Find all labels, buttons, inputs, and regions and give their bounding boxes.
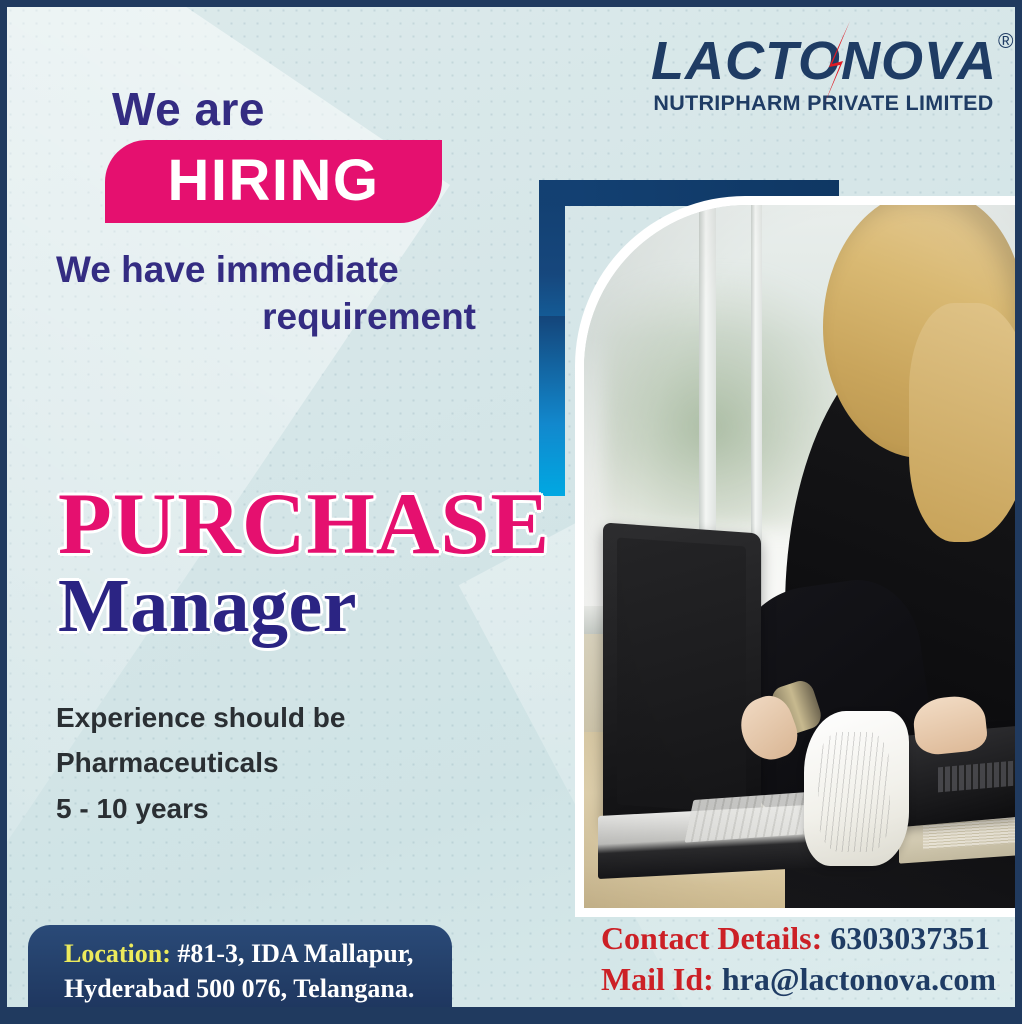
decorative-arc-tail: [539, 316, 565, 496]
logo-subtitle: NUTRIPHARM PRIVATE LIMITED: [651, 91, 996, 116]
photo-section: [575, 196, 1022, 917]
immediate-line-2: requirement: [56, 293, 476, 340]
mail-id-label: Mail Id:: [601, 961, 714, 997]
location-label: Location:: [64, 939, 171, 968]
photo-frame: [575, 196, 1022, 917]
requirement-line-1: Experience should be: [56, 695, 496, 740]
contact-mail-value[interactable]: hra@lactonova.com: [714, 961, 996, 997]
immediate-line-1: We have immediate: [56, 249, 399, 290]
location-line-1: Location: #81-3, IDA Mallapur,: [64, 937, 452, 972]
location-address-1: #81-3, IDA Mallapur,: [171, 939, 413, 968]
contact-phone-value[interactable]: 6303037351: [822, 920, 990, 956]
job-title-block: PURCHASE Manager: [58, 483, 550, 647]
photo-image: [584, 205, 1022, 908]
job-title-sub: Manager: [58, 567, 550, 647]
logo-wordmark-tail: OVA: [881, 31, 997, 91]
we-are-text: We are: [112, 82, 265, 136]
contact-mail-line: Mail Id: hra@lactonova.com: [601, 959, 996, 1000]
company-logo: LACTONOVA® NUTRIPHARM PRIVATE LIMITED: [651, 34, 996, 116]
registered-trademark-icon: ®: [998, 30, 1014, 53]
requirement-line-3: 5 - 10 years: [56, 786, 496, 831]
hiring-badge-label: HIRING: [105, 151, 442, 209]
location-line-2: Hyderabad 500 076, Telangana.: [64, 972, 452, 1007]
footer-bar: [7, 1007, 1015, 1017]
contact-details-label: Contact Details:: [601, 920, 822, 956]
contact-phone-line: Contact Details: 6303037351: [601, 918, 996, 959]
job-title-main: PURCHASE: [58, 483, 550, 567]
hiring-poster: LACTONOVA® NUTRIPHARM PRIVATE LIMITED We…: [0, 0, 1022, 1024]
contact-block: Contact Details: 6303037351 Mail Id: hra…: [601, 918, 996, 1000]
photo-vignette: [584, 205, 1022, 908]
job-requirements: Experience should be Pharmaceuticals 5 -…: [56, 695, 496, 831]
immediate-requirement-text: We have immediate requirement: [56, 246, 476, 341]
requirement-line-2: Pharmaceuticals: [56, 740, 496, 785]
logo-wordmark-head: LACTON: [651, 31, 881, 91]
location-panel: Location: #81-3, IDA Mallapur, Hyderabad…: [28, 925, 452, 1007]
logo-wordmark: LACTONOVA®: [651, 34, 1014, 88]
hiring-badge: HIRING: [105, 140, 442, 223]
